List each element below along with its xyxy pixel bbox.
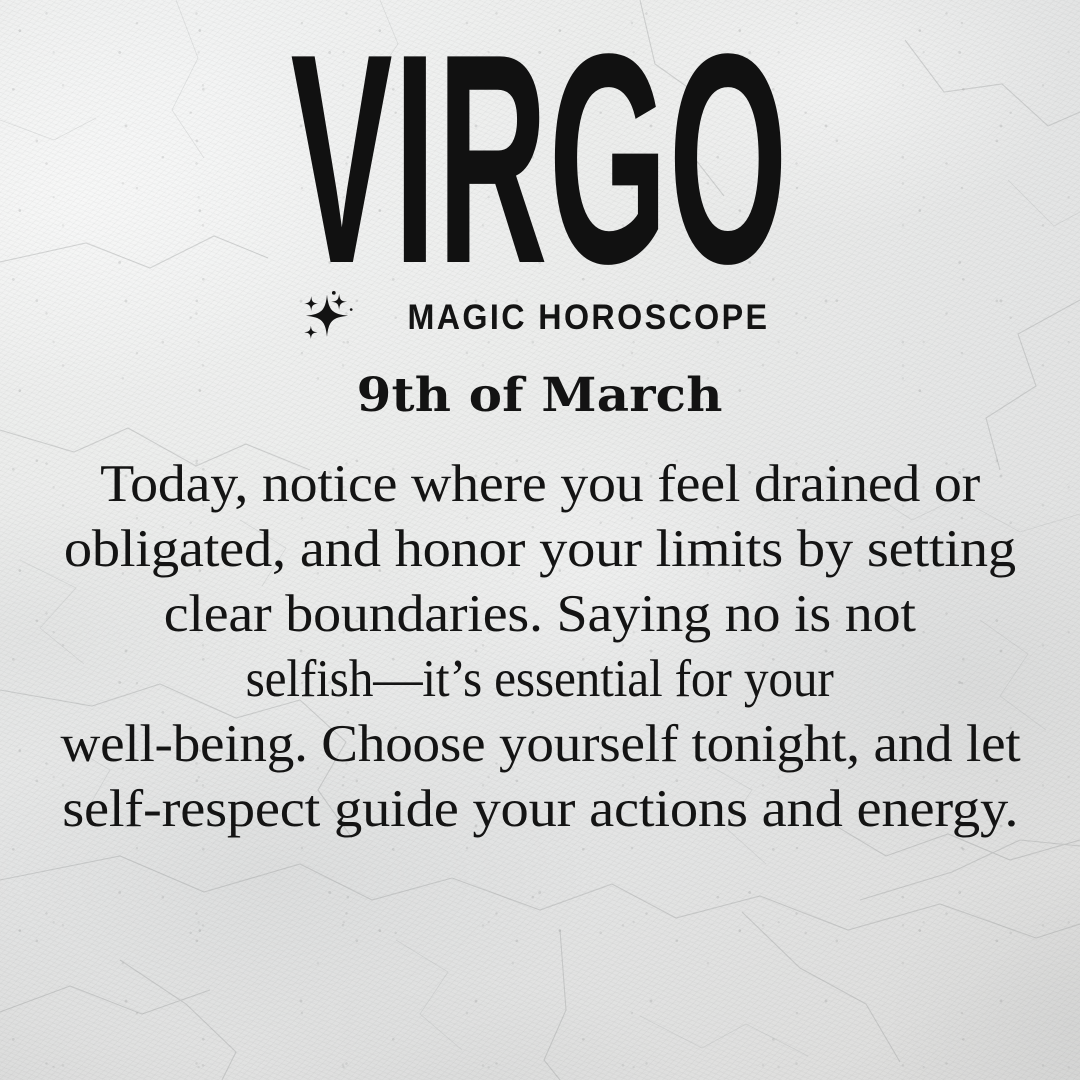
horoscope-line: clear boundaries. Saying no is not [164, 582, 916, 647]
horoscope-line: obligated, and honor your limits by sett… [64, 517, 1016, 582]
sparkle-star-icon [296, 286, 358, 348]
horoscope-line: self-respect guide your actions and ener… [62, 777, 1018, 842]
card-content: VIRGO MAGIC HOROSCOPE 9th of March Today… [0, 0, 1080, 1080]
brand-row: MAGIC HOROSCOPE [0, 286, 1080, 348]
horoscope-text: Today, notice where you feel drained or … [40, 452, 1040, 842]
brand-name-label: MAGIC HOROSCOPE [407, 300, 769, 335]
date-heading: 9th of March [0, 368, 1080, 424]
horoscope-line: Today, notice where you feel drained or [100, 452, 980, 517]
horoscope-card: VIRGO MAGIC HOROSCOPE 9th of March Today… [0, 0, 1080, 1080]
horoscope-line: selfish—it’s essential for your [246, 647, 834, 712]
horoscope-line: well-being. Choose yourself tonight, and… [60, 712, 1020, 777]
zodiac-sign-title: VIRGO [0, 10, 1080, 309]
